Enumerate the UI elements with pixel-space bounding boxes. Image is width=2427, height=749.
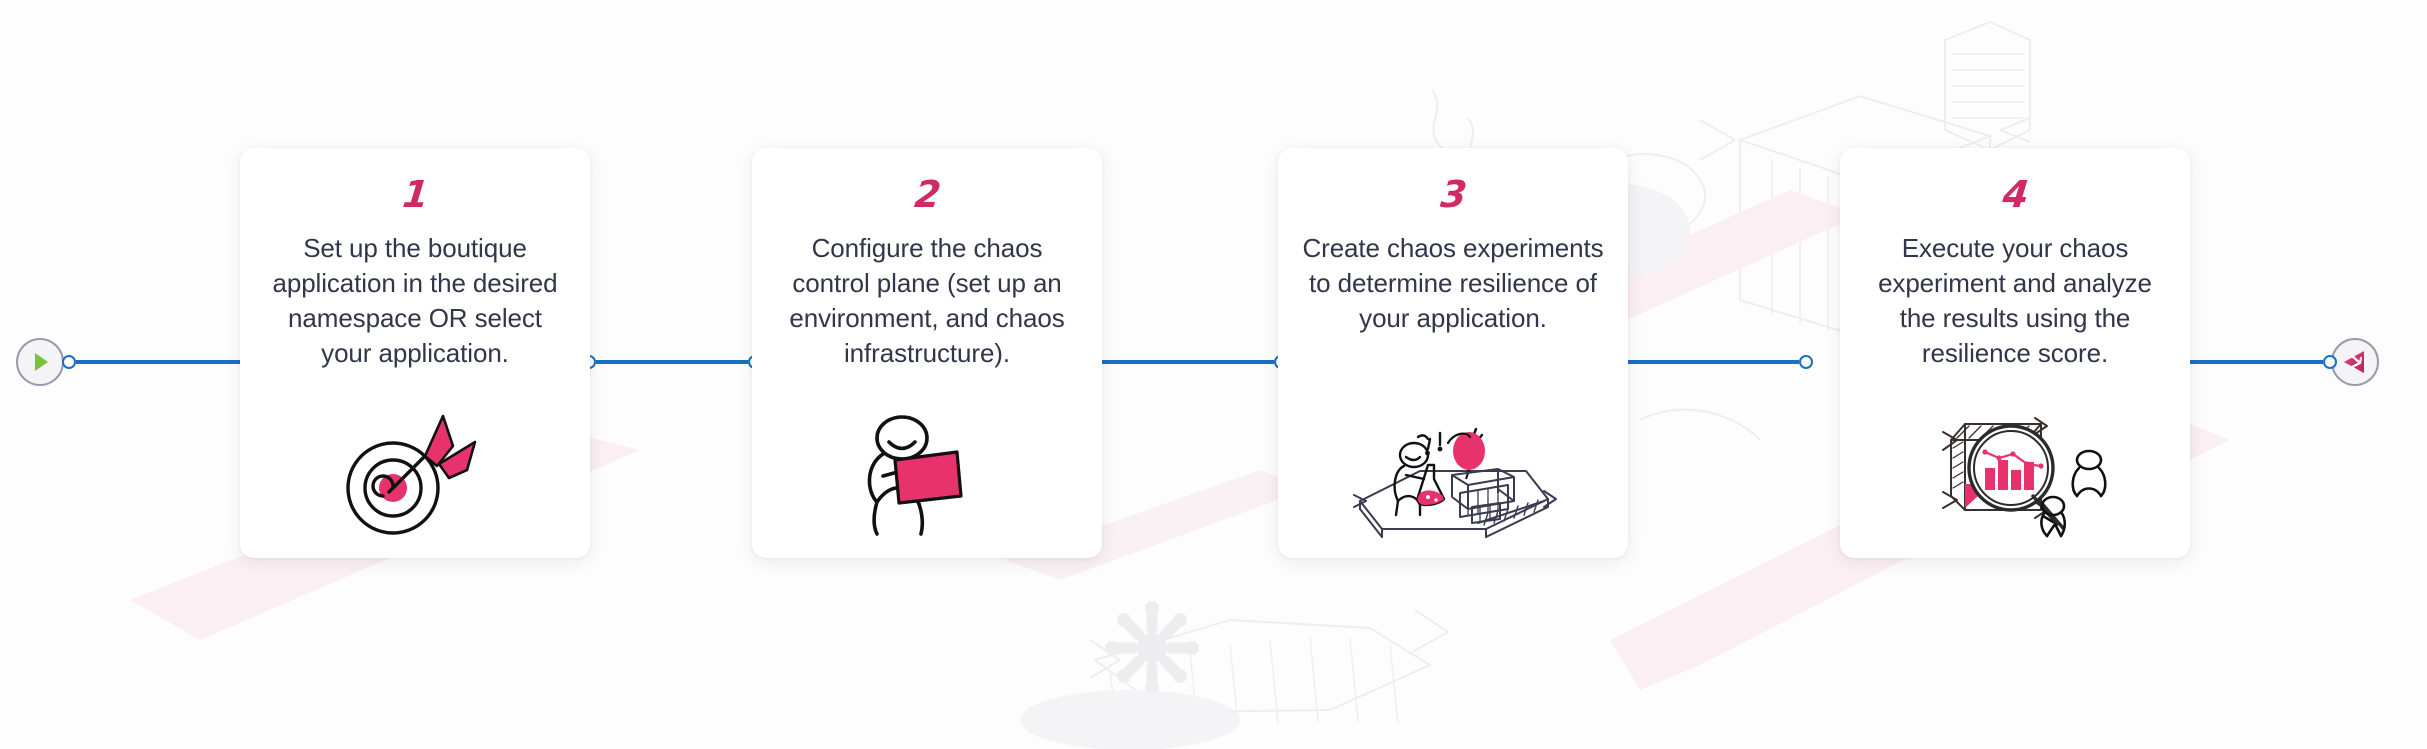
litmus-chaos-logo-icon <box>2340 347 2370 377</box>
step-number: 2 <box>913 176 942 213</box>
connector-node <box>62 355 76 369</box>
target-with-arrow-icon <box>325 408 505 538</box>
step-illustration <box>264 404 566 544</box>
step-number: 1 <box>401 176 430 213</box>
connector-segment-2 <box>1088 355 1288 369</box>
step-description: Configure the chaos control plane (set u… <box>776 231 1078 371</box>
connector-node <box>1799 355 1813 369</box>
step-description: Create chaos experiments to determine re… <box>1302 231 1604 336</box>
step-card-1[interactable]: 1 Set up the boutique application in the… <box>240 148 590 558</box>
connector-line <box>1102 360 1274 364</box>
person-holding-board-icon <box>847 408 1007 538</box>
connector-line <box>1627 360 1799 364</box>
step-description: Execute your chaos experiment and analyz… <box>1864 231 2166 371</box>
step-illustration <box>1864 404 2166 544</box>
play-icon <box>27 349 53 375</box>
step-illustration <box>1302 404 1604 544</box>
flow-start-play-button[interactable] <box>16 338 64 386</box>
step-card-3[interactable]: 3 Create chaos experiments to determine … <box>1278 148 1628 558</box>
connector-line <box>596 360 748 364</box>
connector-segment-0 <box>62 355 254 369</box>
chaos-steps-flow: 1 Set up the boutique application in the… <box>0 0 2427 749</box>
step-card-4[interactable]: 4 Execute your chaos experiment and anal… <box>1840 148 2190 558</box>
scientist-with-flask-icon <box>1348 413 1558 538</box>
magnifier-over-chart-icon <box>1913 410 2118 538</box>
step-card-2[interactable]: 2 Configure the chaos control plane (set… <box>752 148 1102 558</box>
connector-node <box>2323 355 2337 369</box>
connector-segment-3 <box>1613 355 1813 369</box>
connector-line <box>76 360 240 364</box>
connector-segment-1 <box>582 355 762 369</box>
step-number: 4 <box>2001 176 2030 213</box>
step-number: 3 <box>1439 176 1468 213</box>
step-description: Set up the boutique application in the d… <box>264 231 566 371</box>
step-illustration <box>776 404 1078 544</box>
flow-end-litmus-logo[interactable] <box>2331 338 2379 386</box>
